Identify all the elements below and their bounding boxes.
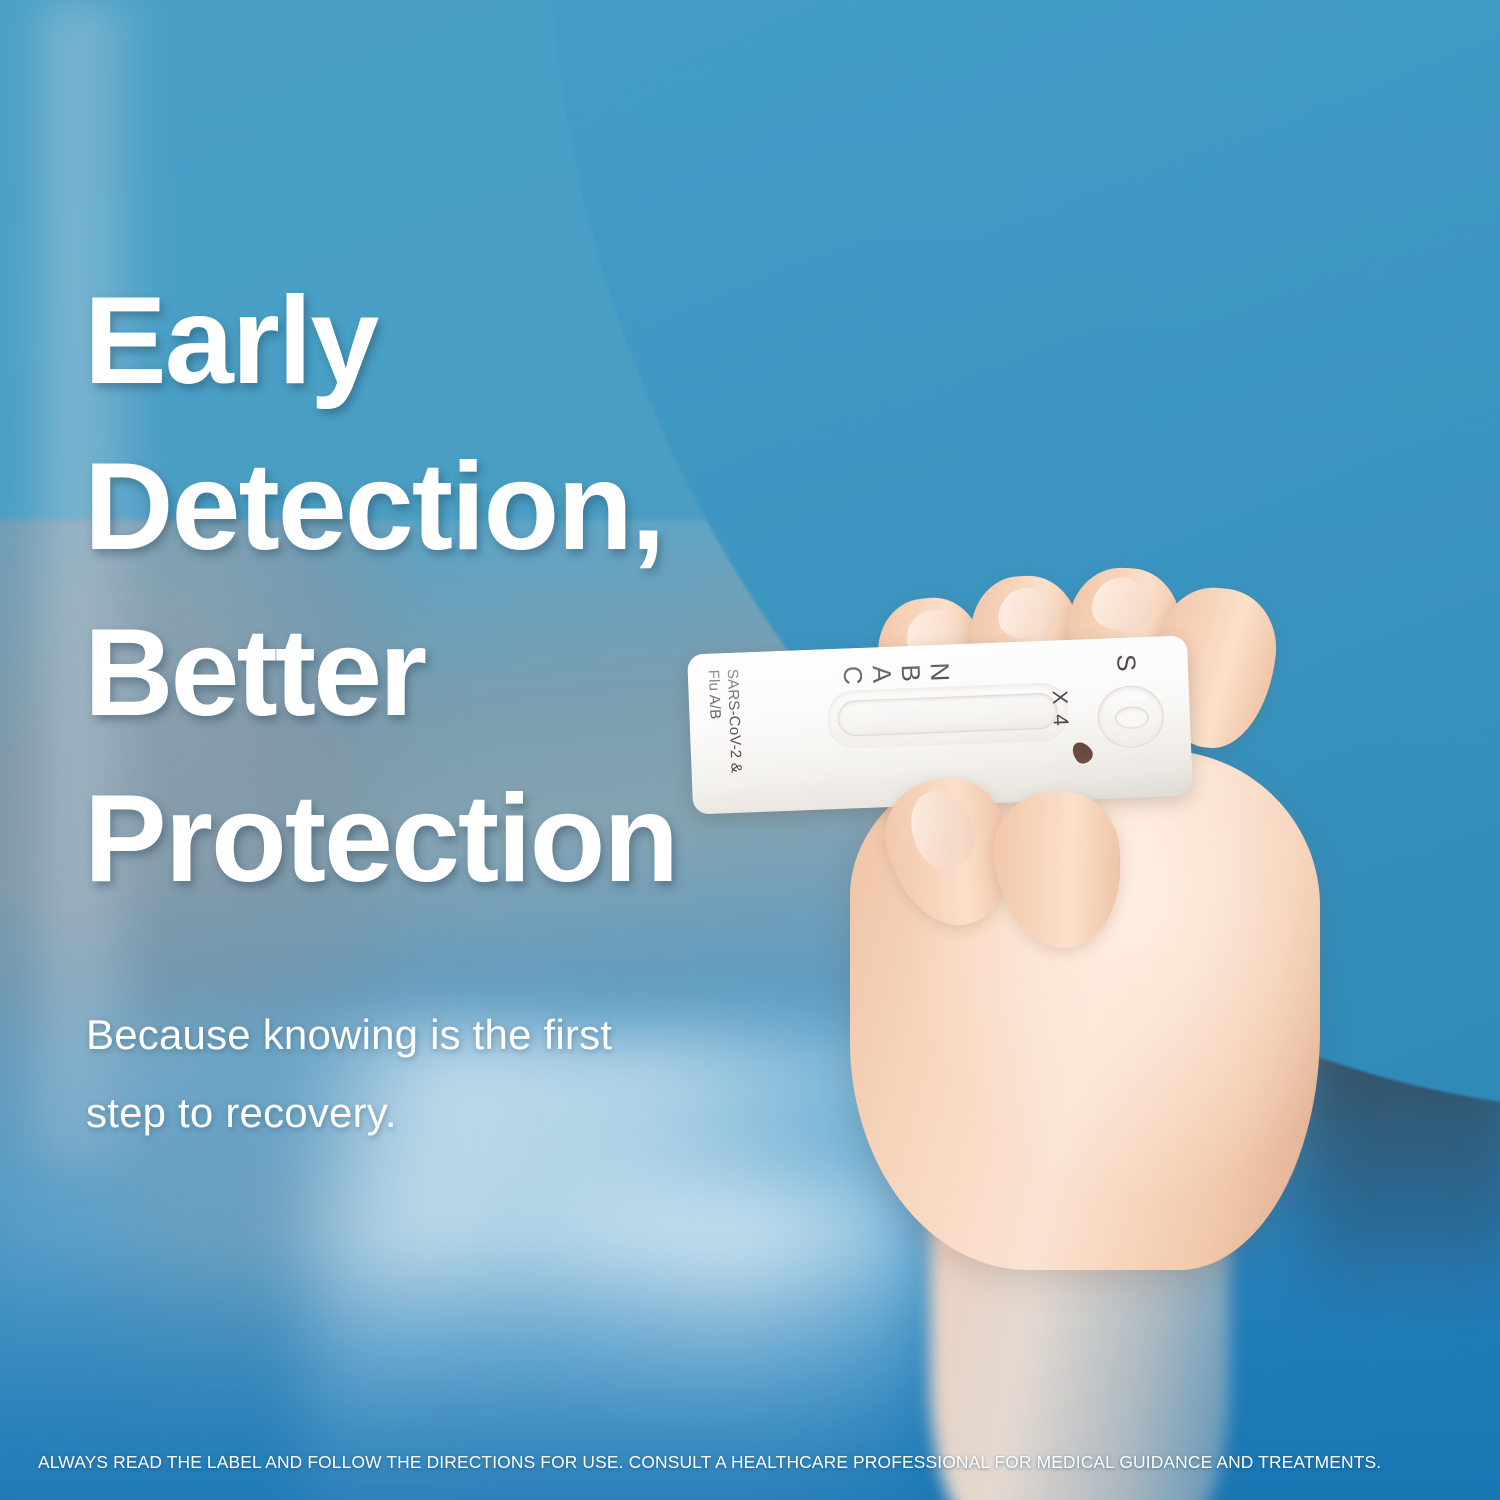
drop-count-label: X 4: [1047, 690, 1072, 728]
headline-line-3: Better: [84, 590, 984, 756]
headline-line-2: Detection,: [84, 424, 984, 590]
subheadline-line-2: step to recovery.: [86, 1074, 846, 1152]
subheadline-line-1: Because knowing is the first: [86, 996, 846, 1074]
headline-line-1: Early: [84, 258, 984, 424]
poster-canvas: SARS-CoV-2 & Flu A/B C A B N X 4 S: [0, 0, 1500, 1500]
drop-icon: [1068, 738, 1096, 766]
footer-disclaimer: ALWAYS READ THE LABEL AND FOLLOW THE DIR…: [38, 1452, 1468, 1473]
subheadline: Because knowing is the first step to rec…: [86, 996, 846, 1151]
sample-well-inner: [1114, 706, 1149, 729]
headline: Early Detection, Better Protection: [84, 258, 984, 923]
sample-well-label: S: [1113, 654, 1140, 672]
headline-line-4: Protection: [84, 756, 984, 922]
